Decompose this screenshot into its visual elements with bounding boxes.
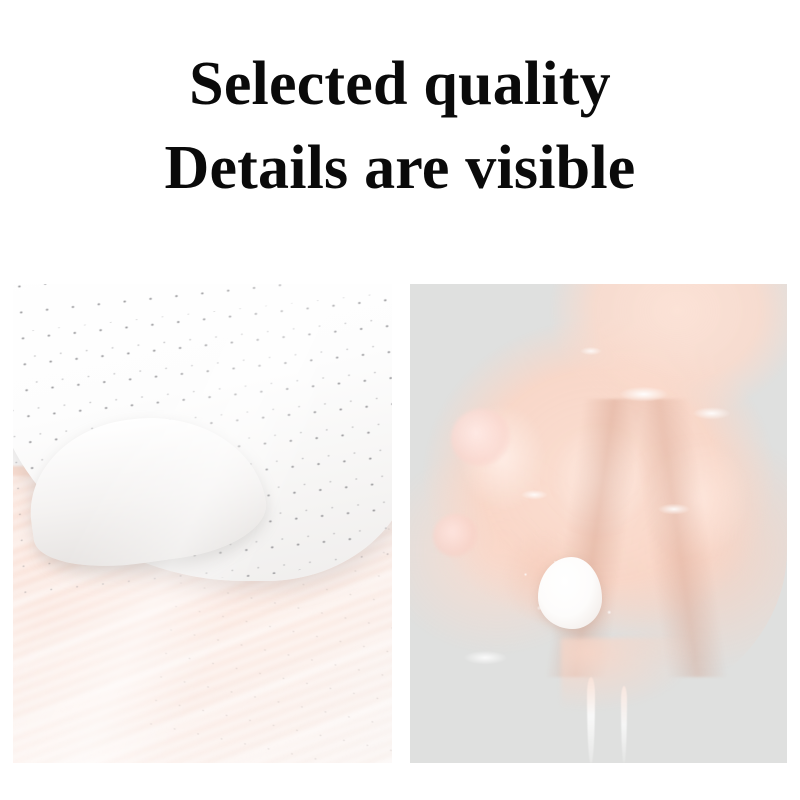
headline-line-1: Selected quality bbox=[0, 42, 800, 126]
wet-gloss-highlights bbox=[410, 284, 787, 763]
panel-hand-essence-photo: Locks in more essence hydrating moisturi… bbox=[410, 284, 787, 763]
sheet-sheen bbox=[13, 284, 392, 763]
panel-sheet-mask-photo: Good penetration of porous fibers bbox=[13, 284, 392, 763]
headline-line-2: Details are visible bbox=[0, 126, 800, 210]
product-feature-poster: Selected quality Details are visible Goo… bbox=[0, 0, 800, 800]
page-title: Selected quality Details are visible bbox=[0, 42, 800, 210]
